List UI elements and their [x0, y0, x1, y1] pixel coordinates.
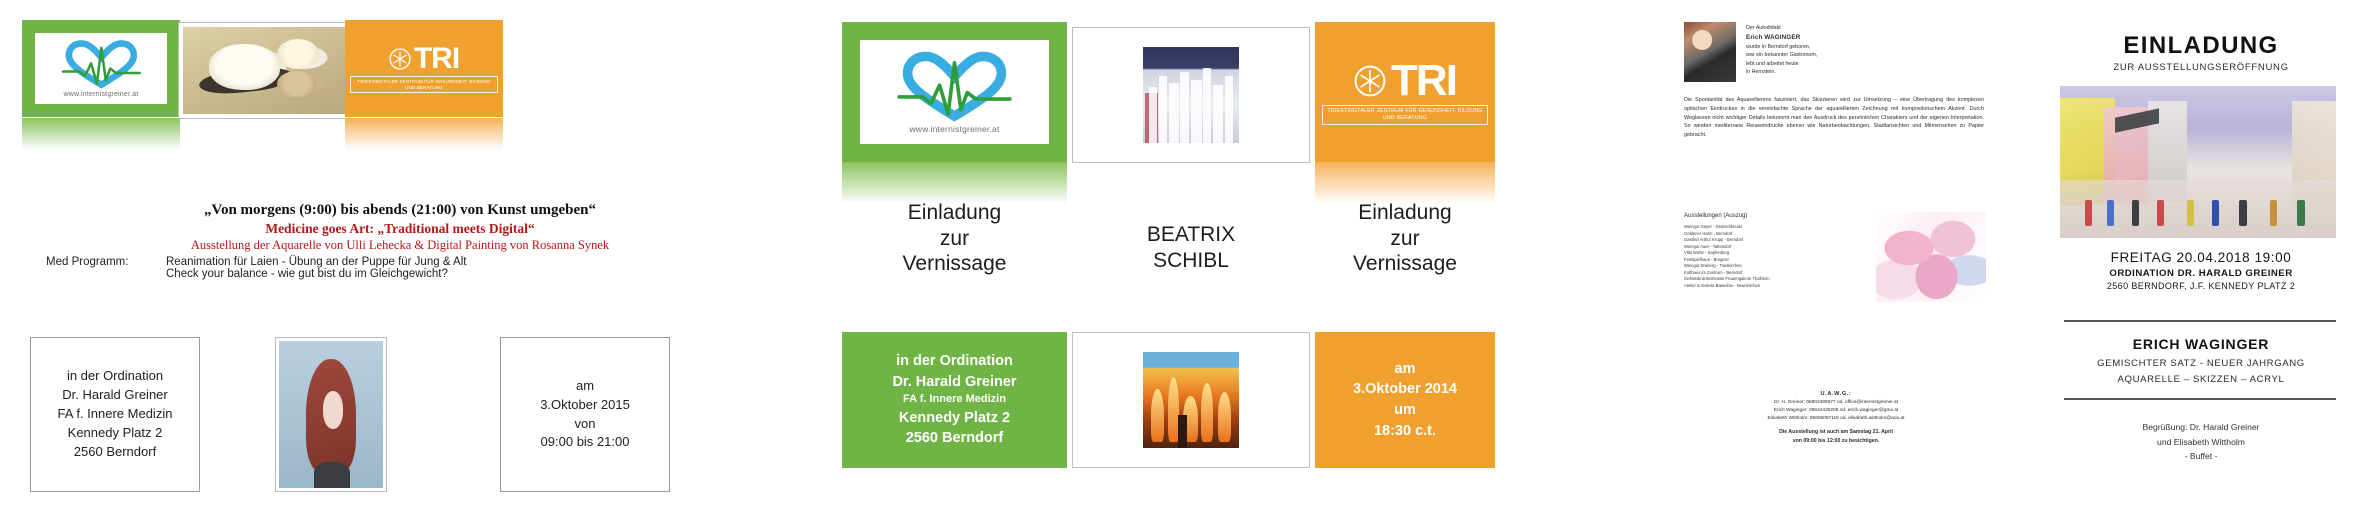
internist-greiner-logo-2: www.internistgreiner.at [860, 40, 1049, 144]
panel-flyer-2015: www.internistgreiner.at [0, 0, 800, 524]
artist-first-name: BEATRIX [1072, 222, 1310, 248]
portrait-photo [1684, 22, 1736, 82]
date-box: am 3.Oktober 2015 von 09:00 bis 21:00 [500, 337, 670, 492]
contact-line: Erich Waginger: 06644425208 od. erich.wa… [1684, 407, 1988, 415]
venue2-line-5: 2560 Berndorf [906, 428, 1004, 449]
caption-artist: BEATRIX SCHIBL [1072, 222, 1310, 273]
artist-subtitle-1: GEMISCHTER SATZ - NEUER JAHRGANG [2034, 358, 2368, 369]
headline-sub: Medicine goes Art: „Traditional meets Di… [0, 221, 800, 237]
caption-right: Einladung zur Vernissage [1315, 200, 1495, 277]
caption-right-line2: zur [1315, 226, 1495, 252]
tri-wordmark: TRI [414, 44, 459, 74]
program-label: Med Programm: [46, 256, 166, 268]
artist-last-name: SCHIBL [1072, 248, 1310, 274]
date2-line-1: am [1395, 359, 1416, 380]
opening-note-line-2: von 09:00 bis 12:00 zu besichtigen. [1684, 437, 1988, 446]
logo-tile-green-fade-2 [842, 162, 1067, 204]
artist-statement: Die Spontanität des Aquarellierens faszi… [1684, 96, 1984, 140]
logo-tile-orange-fade [345, 118, 503, 150]
logo-tile-orange-fade-2 [1315, 162, 1495, 204]
greeting-line-2: und Elisabeth Wittholm [2034, 435, 2368, 450]
artwork-seashells [178, 22, 350, 119]
venue-box: in der Ordination Dr. Harald Greiner FA … [30, 337, 200, 492]
headline-main: „Von morgens (9:00) bis abends (21:00) v… [0, 202, 800, 219]
contact-line: Dr. H. Greiner: 06802389977 od. office@i… [1684, 399, 1988, 407]
caption-right-line3: Vernissage [1315, 251, 1495, 277]
greeting-block: Begrüßung: Dr. Harald Greiner und Elisab… [2034, 420, 2368, 464]
caption-left-line2: zur [842, 226, 1067, 252]
logo-tile-orange: TRI TRIESTINGTALER ZENTRUM FÜR GESUNDHEI… [345, 20, 503, 117]
artist-subtitle-2: AQUARELLE – SKIZZEN – ACRYL [2034, 374, 2368, 385]
date2-line-4: 18:30 c.t. [1374, 421, 1436, 442]
logo-tile-green-2: www.internistgreiner.at [842, 22, 1067, 162]
venue-line-1: in der Ordination [67, 367, 163, 386]
bio-line-6: in Hernstein. [1746, 68, 1926, 77]
artist-name: ERICH WAGINGER [2034, 336, 2368, 352]
bio-line-4: war ein bekannter Gastronom, [1746, 51, 1926, 60]
venue-line-3: FA f. Innere Medizin [58, 405, 173, 424]
panel1-headings: „Von morgens (9:00) bis abends (21:00) v… [0, 202, 800, 280]
tri-wordmark-2: TRI [1391, 59, 1456, 103]
date2-line-2: 3.Oktober 2014 [1353, 379, 1457, 400]
divider-top [2064, 320, 2336, 322]
artwork-blossoms [1876, 212, 1986, 302]
venue-line-4: Kennedy Platz 2 [68, 424, 163, 443]
tri-subtitle: TRIESTINGTALER ZENTRUM FÜR GESUNDHEIT, B… [350, 76, 497, 93]
exhibition-line: Ausstellung der Aquarelle von Ulli Lehec… [0, 238, 800, 253]
logo-tile-orange-2: TRI TRIESTINGTALER ZENTRUM FÜR GESUNDHEI… [1315, 22, 1495, 162]
venue2-line-4: Kennedy Platz 2 [899, 408, 1010, 429]
panel-flyer-front: EINLADUNG ZUR AUSSTELLUNGSERÖFFNUNG FREI… [2034, 0, 2368, 524]
date-line-1: am [576, 377, 594, 396]
exhibition-item: Atelier & Galerie Basedow - Neunkirchen [1684, 283, 1824, 290]
logo-tile-green: www.internistgreiner.at [22, 20, 180, 117]
venue-box-2: in der Ordination Dr. Harald Greiner FA … [842, 332, 1067, 468]
caption-left-line3: Vernissage [842, 251, 1067, 277]
tri-logo: TRI TRIESTINGTALER ZENTRUM FÜR GESUNDHEI… [345, 20, 503, 117]
greeting-line-1: Begrüßung: Dr. Harald Greiner [2034, 420, 2368, 435]
heart-ecg-icon [35, 39, 168, 91]
exhibitions-title: Ausstellungen (Auszug) [1684, 212, 1747, 222]
date-line-2: 3.Oktober 2015 [540, 396, 630, 415]
exhibitions-list: Weingut Geyer - Deutschkreutz Goldener H… [1684, 224, 1824, 289]
invitation-title: EINLADUNG [2034, 32, 2368, 60]
panel-flyer-2014: www.internistgreiner.at [820, 0, 1520, 524]
logo-url-label-2: www.internistgreiner.at [909, 124, 999, 134]
date2-line-3: um [1394, 400, 1416, 421]
tri-subtitle-2: TRIESTINGTALER ZENTRUM FÜR GESUNDHEIT, B… [1322, 105, 1488, 124]
panel-flyer-back: Der Autodidakt Erich WAGINGER wurde in B… [1676, 0, 1996, 524]
venue-line-5: 2560 Berndorf [74, 443, 156, 462]
date-box-2: am 3.Oktober 2014 um 18:30 c.t. [1315, 332, 1495, 468]
bio-line-1: Der Autodidakt [1746, 24, 1926, 33]
artwork-city [1072, 27, 1310, 163]
screenshot-root: www.internistgreiner.at [0, 0, 2368, 524]
program-line-2: Check your balance - wie gut bist du im … [46, 268, 800, 280]
event-address: 2560 BERNDORF, J.F. KENNEDY PLATZ 2 [2034, 281, 2368, 291]
artwork-anime-girl [275, 337, 387, 492]
date-line-4: 09:00 bis 21:00 [541, 433, 630, 452]
venue2-line-3: FA f. Innere Medizin [903, 392, 1006, 408]
venue2-line-2: Dr. Harald Greiner [892, 372, 1016, 393]
contact-line: Elisabeth Wittholm: 06606087116 od. elis… [1684, 415, 1988, 423]
bio-line-5: lebt und arbeitet heute [1746, 60, 1926, 69]
event-date: FREITAG 20.04.2018 19:00 [2034, 250, 2368, 265]
logo-tile-green-fade [22, 118, 180, 150]
date-line-3: von [575, 415, 596, 434]
caption-right-line1: Einladung [1315, 200, 1495, 226]
logo-url-label: www.internistgreiner.at [63, 91, 138, 98]
contact-block: U.A.W.G.: Dr. H. Greiner: 06802389977 od… [1684, 390, 1988, 446]
internist-greiner-logo: www.internistgreiner.at [35, 33, 168, 105]
artwork-street-scene [2060, 86, 2336, 238]
buffet-line: - Buffet - [2034, 449, 2368, 464]
bio-line-3: wurde in Berndorf geboren, [1746, 43, 1926, 52]
tri-snowflake-icon-2 [1354, 65, 1386, 97]
venue-line-2: Dr. Harald Greiner [62, 386, 167, 405]
divider-bottom [2064, 398, 2336, 400]
artwork-fire [1072, 332, 1310, 468]
uawg-title: U.A.W.G.: [1684, 390, 1988, 399]
caption-left-line1: Einladung [842, 200, 1067, 226]
invitation-subtitle: ZUR AUSSTELLUNGSERÖFFNUNG [2034, 62, 2368, 73]
venue2-line-1: in der Ordination [896, 351, 1013, 372]
caption-left: Einladung zur Vernissage [842, 200, 1067, 277]
tri-snowflake-icon [389, 48, 411, 70]
bio-artist-name: Erich WAGINGER [1746, 33, 1926, 43]
artist-bio: Der Autodidakt Erich WAGINGER wurde in B… [1746, 24, 1926, 77]
heart-ecg-icon-2 [860, 50, 1049, 125]
tri-logo-2: TRI TRIESTINGTALER ZENTRUM FÜR GESUNDHEI… [1315, 22, 1495, 162]
program-line-1: Reanimation für Laien - Übung an der Pup… [166, 256, 466, 268]
event-details: FREITAG 20.04.2018 19:00 ORDINATION DR. … [2034, 250, 2368, 291]
event-venue: ORDINATION DR. HARALD GREINER [2034, 268, 2368, 279]
opening-note-line-1: Die Ausstellung ist auch am Samstag 21. … [1684, 428, 1988, 437]
program-block: Med Programm:Reanimation für Laien - Übu… [0, 256, 800, 280]
